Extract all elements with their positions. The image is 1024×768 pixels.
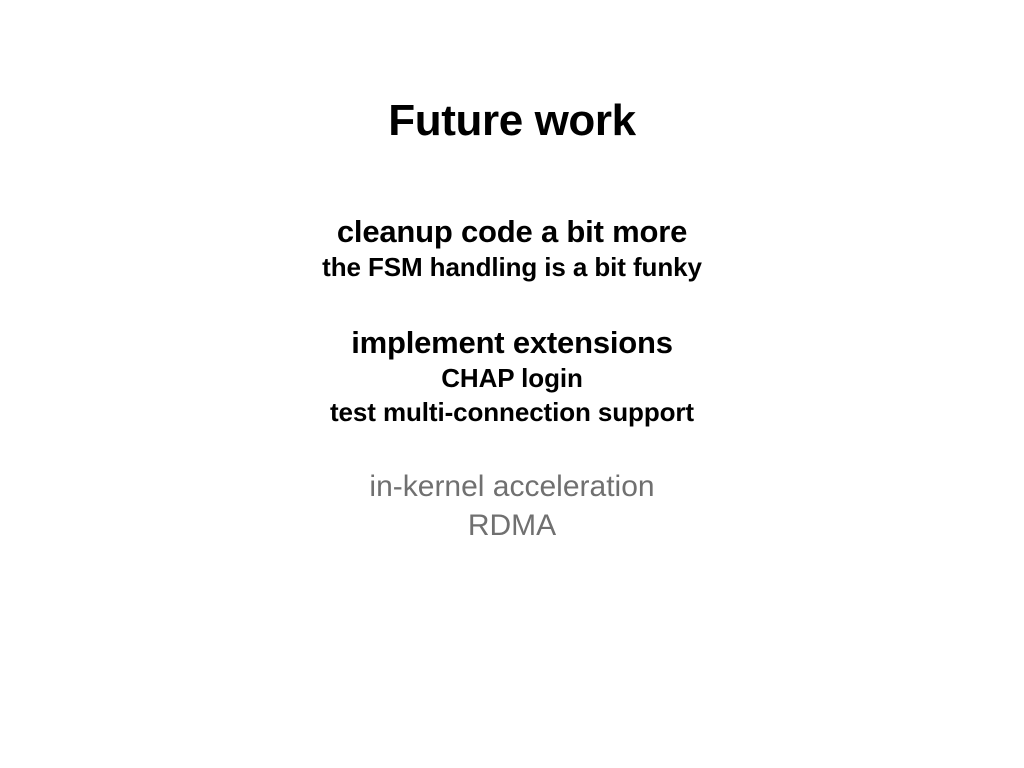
bullet-detail-rdma: RDMA (0, 506, 1024, 545)
slide-title: Future work (0, 96, 1024, 145)
bullet-detail-fsm-handling: the FSM handling is a bit funky (0, 251, 1024, 285)
bullet-heading-cleanup: cleanup code a bit more (0, 212, 1024, 251)
bullet-group-cleanup: cleanup code a bit more the FSM handling… (0, 212, 1024, 285)
bullet-detail-multi-connection: test multi-connection support (0, 396, 1024, 430)
bullet-group-acceleration: in-kernel acceleration RDMA (0, 467, 1024, 545)
bullet-detail-chap-login: CHAP login (0, 362, 1024, 396)
bullet-group-extensions: implement extensions CHAP login test mul… (0, 323, 1024, 430)
bullet-heading-extensions: implement extensions (0, 323, 1024, 362)
presentation-slide: Future work cleanup code a bit more the … (0, 0, 1024, 768)
slide-body: cleanup code a bit more the FSM handling… (0, 212, 1024, 545)
bullet-heading-in-kernel-acceleration: in-kernel acceleration (0, 467, 1024, 506)
